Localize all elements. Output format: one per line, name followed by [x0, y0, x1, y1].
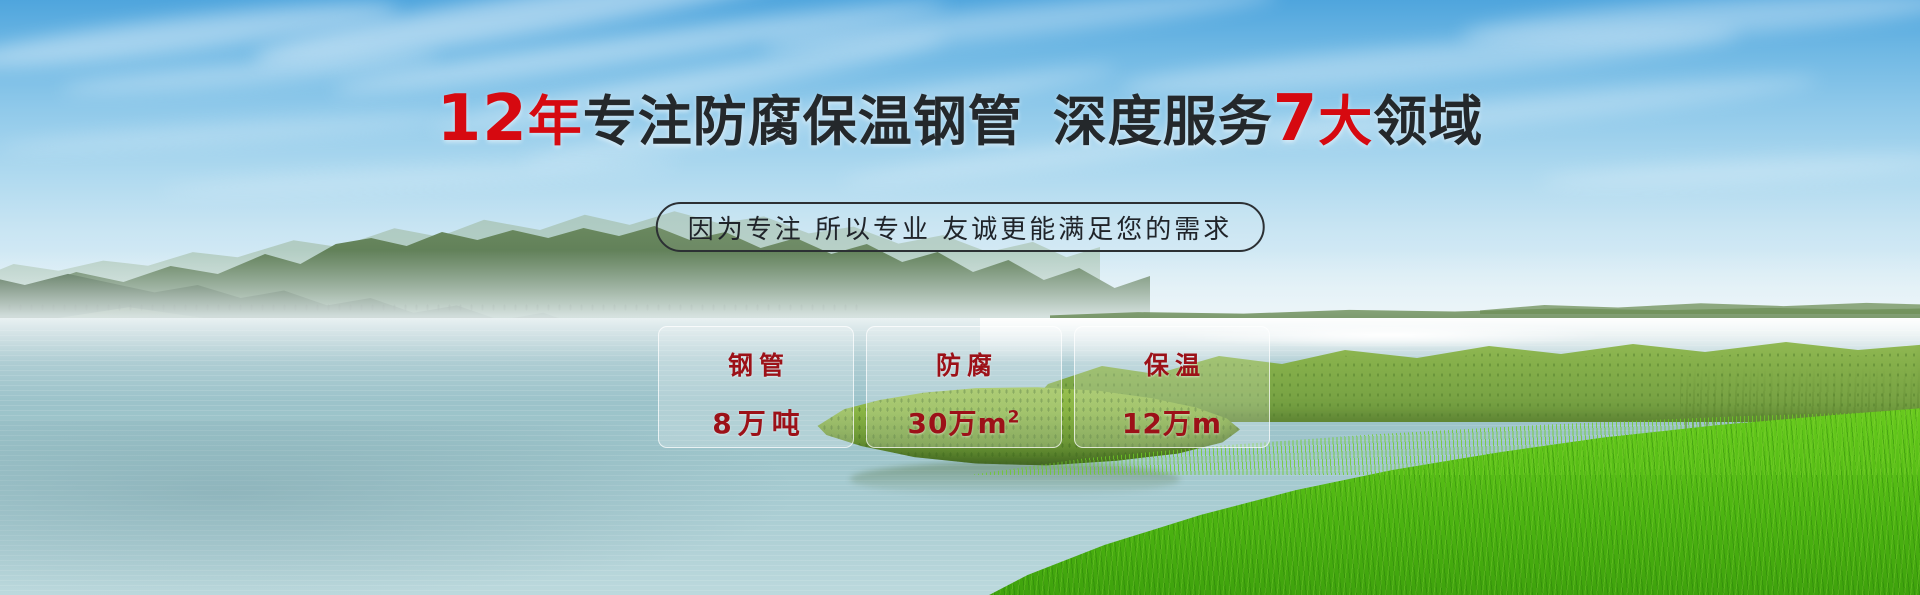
cloud-wisp-icon — [0, 0, 400, 79]
stat-card-group: 钢管 8万吨 防腐 30万m2 保温 12万m — [658, 326, 1270, 448]
stat-value: 8万吨 — [706, 402, 805, 442]
stat-label: 防腐 — [930, 346, 998, 382]
cloud-wisp-icon — [250, 0, 809, 78]
stat-card-anticorrosion[interactable]: 防腐 30万m2 — [866, 326, 1062, 448]
cloud-wisp-icon — [1540, 149, 1920, 193]
stat-value: 30万m2 — [908, 402, 1021, 442]
stat-value: 12万m — [1122, 402, 1222, 442]
cloud-wisp-icon — [160, 154, 680, 199]
headline-fields-number: 7 — [1273, 82, 1319, 156]
stat-label: 保温 — [1138, 346, 1206, 382]
hero-banner: 12年专注防腐保温钢管深度服务7大领域 因为专注 所以专业 友诚更能满足您的需求… — [0, 0, 1920, 595]
stat-value-text: 30万m — [908, 407, 1008, 440]
headline-years-number: 12 — [437, 82, 528, 156]
banner-subtitle-text: 因为专注 所以专业 友诚更能满足您的需求 — [688, 209, 1233, 246]
banner-headline: 12年专注防腐保温钢管深度服务7大领域 — [0, 86, 1920, 153]
cloud-wisp-icon — [1459, 0, 1920, 53]
stat-value-text: 12万m — [1122, 407, 1222, 440]
stat-card-insulation[interactable]: 保温 12万m — [1074, 326, 1270, 448]
stat-label: 钢管 — [722, 346, 790, 382]
headline-service-text: 深度服务 — [1053, 90, 1273, 153]
stat-value-superscript: 2 — [1008, 408, 1021, 428]
banner-subtitle-pill: 因为专注 所以专业 友诚更能满足您的需求 — [656, 202, 1265, 252]
stat-value-text: 8万吨 — [712, 407, 805, 440]
headline-years-unit: 年 — [528, 90, 583, 153]
headline-focus-text: 专注防腐保温钢管 — [583, 90, 1023, 153]
stat-card-steel-pipe[interactable]: 钢管 8万吨 — [658, 326, 854, 448]
headline-fields-tail: 领域 — [1373, 90, 1483, 153]
headline-fields-unit: 大 — [1318, 90, 1373, 153]
cloud-wisp-icon — [760, 0, 1280, 63]
